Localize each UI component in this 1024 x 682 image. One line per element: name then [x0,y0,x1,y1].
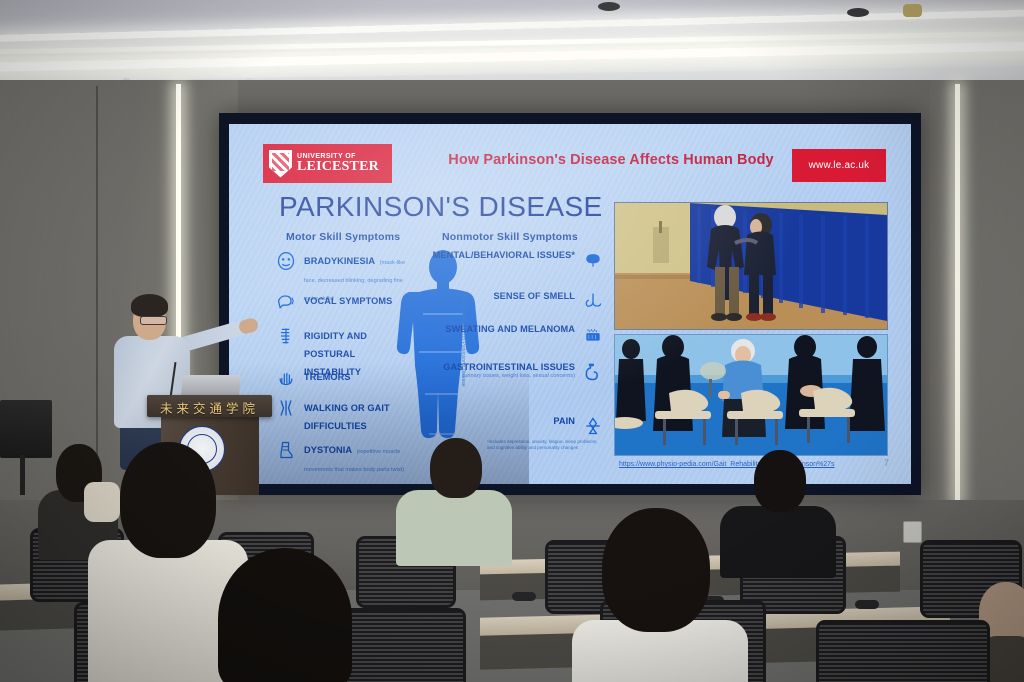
podium-label: 未来交通学院 [152,398,267,417]
presenter-hair [131,294,168,317]
audience-member [218,548,352,682]
lecture-hall-scene: UNIVERSITY OF LEICESTER How Parkinson's … [0,0,1024,682]
chair-armrest [512,592,536,601]
screen-glare [229,124,911,484]
chair[interactable] [816,620,984,682]
vertical-led-strip-right [955,84,960,504]
audience-member [396,436,512,562]
sprinkler-icon [903,4,922,17]
ceiling-speaker-icon [847,8,869,17]
chair-armrest [855,600,879,609]
laptop [181,375,241,397]
ceiling-speaker-icon [598,2,620,11]
glasses-icon [140,316,167,325]
presenter-hand [238,317,260,335]
speaker-stand [20,455,25,495]
audience-member [568,508,748,682]
right-wall-panel [930,80,1024,520]
projection-screen: UNIVERSITY OF LEICESTER How Parkinson's … [229,124,911,484]
